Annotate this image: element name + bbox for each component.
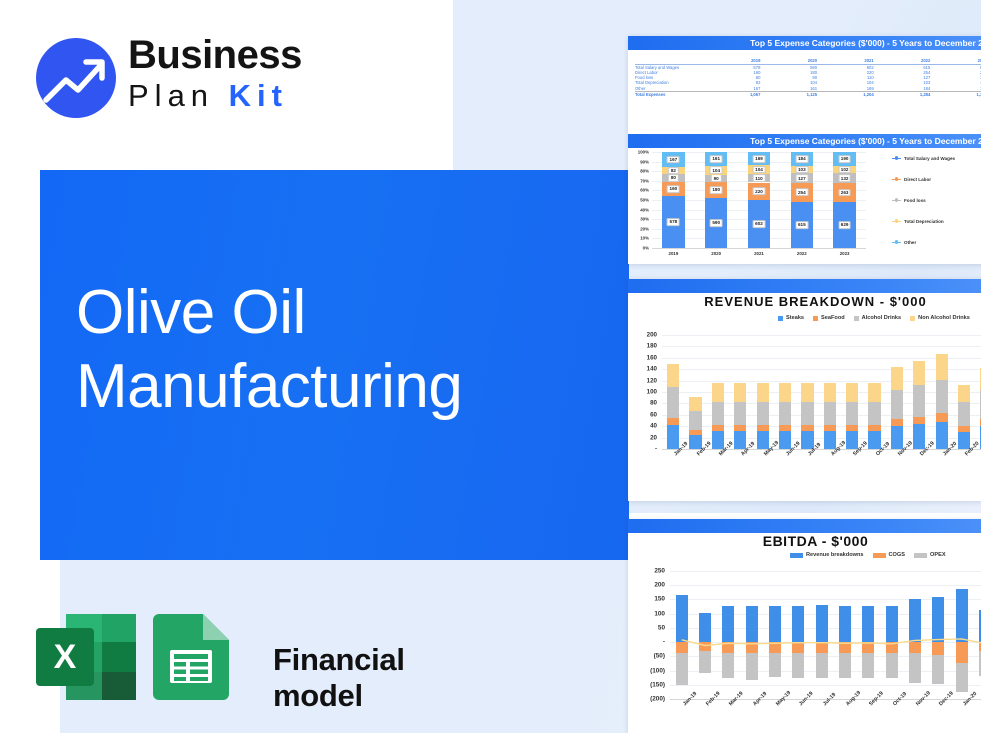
legend-item: Food loss bbox=[892, 198, 926, 203]
y-axis-label: 120 bbox=[628, 377, 657, 384]
legend-marker bbox=[778, 316, 783, 321]
bar-segment bbox=[824, 431, 836, 449]
y-axis-label: 30% bbox=[628, 217, 649, 222]
bar-segment bbox=[667, 387, 679, 417]
bar-segment bbox=[913, 385, 925, 416]
expense-cell: 1,316 bbox=[944, 91, 981, 97]
x-axis-category: 2022 bbox=[797, 251, 807, 256]
legend-label: Steaks bbox=[786, 315, 804, 321]
bar-segment: 160 bbox=[662, 182, 684, 196]
ebitda-chart-legend: Revenue breakdownsCOGSOPEX bbox=[790, 552, 946, 558]
bar-value-label: 263 bbox=[838, 189, 851, 197]
bar-segment bbox=[868, 425, 880, 431]
bar-value-label: 602 bbox=[753, 220, 766, 228]
bar-segment bbox=[958, 432, 970, 449]
bar-value-label: 578 bbox=[667, 218, 680, 226]
y-axis-label: 10% bbox=[628, 236, 649, 241]
bar-segment: 169 bbox=[748, 152, 770, 165]
bar-value-label: 102 bbox=[838, 166, 851, 174]
expense-row-label: Total Expenses bbox=[635, 91, 718, 97]
x-axis-line bbox=[662, 449, 981, 450]
x-axis-category: 2020 bbox=[711, 251, 721, 256]
bar-segment: 110 bbox=[748, 174, 770, 183]
bar-segment bbox=[712, 425, 724, 431]
y-axis-label: 60 bbox=[628, 411, 657, 418]
gridline bbox=[662, 392, 981, 393]
bar-segment bbox=[936, 422, 948, 449]
bar-segment: 263 bbox=[833, 183, 855, 202]
legend-marker bbox=[813, 316, 818, 321]
bar-value-label: 90 bbox=[711, 175, 721, 183]
revenue-chart-title: REVENUE BREAKDOWN - $'000 bbox=[628, 294, 981, 309]
bar-segment bbox=[913, 417, 925, 425]
brand-line-business: Business bbox=[128, 33, 338, 77]
y-axis-label: 70% bbox=[628, 178, 649, 183]
x-axis-category: 2023 bbox=[840, 251, 850, 256]
bar-segment bbox=[891, 367, 903, 390]
legend-item: Revenue breakdowns bbox=[790, 552, 864, 558]
bar-segment: 104 bbox=[705, 166, 727, 175]
bar-segment: 590 bbox=[705, 198, 727, 248]
bar-value-label: 220 bbox=[753, 187, 766, 195]
slide-root: Business Plan Kit Olive Oil Manufacturin… bbox=[0, 0, 981, 733]
gridline bbox=[662, 426, 981, 427]
bar-segment bbox=[712, 402, 724, 425]
revenue-top-band bbox=[628, 279, 981, 293]
bar-value-label: 180 bbox=[710, 186, 723, 194]
legend-label: Total Salary and Wages bbox=[904, 156, 955, 161]
y-axis-label: - bbox=[628, 446, 657, 453]
microsoft-excel-icon: X bbox=[36, 614, 136, 700]
bar-segment: 578 bbox=[662, 196, 684, 248]
legend-item: Other bbox=[892, 240, 916, 245]
legend-marker bbox=[892, 221, 901, 223]
y-axis-label: 100% bbox=[628, 150, 649, 155]
stacked-bar: 602220110104169 bbox=[748, 152, 770, 248]
bar-segment: 132 bbox=[833, 173, 855, 183]
y-axis-label: 50% bbox=[628, 198, 649, 203]
bar-segment: 103 bbox=[791, 166, 813, 174]
bar-segment: 80 bbox=[662, 174, 684, 181]
bar-segment bbox=[667, 418, 679, 425]
legend-label: Alcohol Drinks bbox=[862, 315, 901, 321]
bar-segment: 127 bbox=[791, 173, 813, 183]
legend-label: Food loss bbox=[904, 198, 926, 203]
legend-marker bbox=[914, 553, 927, 558]
ebitda-chart-title: EBITDA - $'000 bbox=[628, 533, 981, 549]
bar-segment bbox=[801, 425, 813, 431]
expense-categories-card: Top 5 Expense Categories ($'000) - 5 Yea… bbox=[628, 36, 981, 264]
bar-segment: 602 bbox=[748, 200, 770, 248]
expense-chart-legend: Total Salary and WagesDirect LaborFood l… bbox=[892, 156, 981, 252]
bar-value-label: 184 bbox=[795, 155, 808, 163]
bar-value-label: 161 bbox=[710, 155, 723, 163]
bar-value-label: 110 bbox=[753, 174, 766, 182]
bar-value-label: 127 bbox=[795, 174, 808, 182]
y-axis-label: 100 bbox=[628, 389, 657, 396]
bar-segment bbox=[689, 435, 701, 449]
y-axis-label: 60% bbox=[628, 188, 649, 193]
bar-segment bbox=[824, 425, 836, 431]
bar-value-label: 167 bbox=[667, 156, 680, 164]
gridline bbox=[662, 381, 981, 382]
bar-segment: 180 bbox=[705, 182, 727, 197]
y-axis-label: 90% bbox=[628, 159, 649, 164]
bar-segment: 190 bbox=[833, 152, 855, 166]
bar-segment bbox=[712, 431, 724, 449]
legend-label: Other bbox=[904, 240, 916, 245]
y-axis-label: 200 bbox=[628, 332, 657, 339]
stacked-bar: 615254127103184 bbox=[791, 152, 813, 248]
bar-segment bbox=[936, 354, 948, 380]
expense-table-title-band: Top 5 Expense Categories ($'000) - 5 Yea… bbox=[628, 36, 981, 50]
expense-table-title: Top 5 Expense Categories ($'000) - 5 Yea… bbox=[750, 36, 981, 50]
legend-item: Non Alcohol Drinks bbox=[910, 315, 970, 321]
bar-segment: 629 bbox=[833, 202, 855, 248]
x-axis-line bbox=[652, 248, 866, 249]
bar-segment bbox=[958, 402, 970, 426]
expense-chart-title: Top 5 Expense Categories ($'000) - 5 Yea… bbox=[750, 134, 981, 148]
expense-table: 20192020202120222023Total Salary and Wag… bbox=[635, 58, 981, 97]
bar-segment: 220 bbox=[748, 183, 770, 201]
legend-label: Direct Labor bbox=[904, 177, 931, 182]
legend-item: Total Depreciation bbox=[892, 219, 944, 224]
hero-banner: Olive Oil Manufacturing bbox=[40, 170, 629, 560]
revenue-chart-legend: SteaksSeaFoodAlcohol DrinksNon Alcohol D… bbox=[778, 315, 970, 321]
bar-segment bbox=[734, 425, 746, 431]
legend-label: COGS bbox=[889, 552, 905, 558]
bar-segment bbox=[801, 402, 813, 425]
bar-segment bbox=[779, 402, 791, 425]
legend-marker bbox=[854, 316, 859, 321]
brand-wordmark: Business Plan Kit bbox=[128, 33, 338, 115]
gridline bbox=[662, 438, 981, 439]
bar-value-label: 82 bbox=[668, 167, 678, 175]
gridline bbox=[662, 415, 981, 416]
bar-segment bbox=[689, 411, 701, 430]
bar-segment bbox=[913, 361, 925, 386]
bar-segment bbox=[891, 426, 903, 449]
bar-segment: 102 bbox=[833, 166, 855, 173]
bar-segment bbox=[712, 383, 724, 401]
bar-value-label: 254 bbox=[795, 189, 808, 197]
brand-kit-text: Kit bbox=[229, 78, 288, 113]
bar-segment: 615 bbox=[791, 202, 813, 248]
stacked-bar: 629263132102190 bbox=[833, 152, 855, 248]
revenue-chart-plot: -20406080100120140160180200Jan-19Feb-19M… bbox=[628, 309, 981, 501]
bar-segment bbox=[757, 425, 769, 431]
y-axis-label: 0% bbox=[628, 246, 649, 251]
legend-item: SeaFood bbox=[813, 315, 845, 321]
bar-segment bbox=[734, 402, 746, 425]
bar-segment: 90 bbox=[705, 175, 727, 183]
bar-segment bbox=[824, 402, 836, 425]
bar-value-label: 160 bbox=[667, 185, 680, 193]
bar-segment bbox=[689, 430, 701, 435]
x-axis-category: 2019 bbox=[669, 251, 679, 256]
y-axis-label: 140 bbox=[628, 366, 657, 373]
bar-segment bbox=[846, 425, 858, 431]
gridline bbox=[662, 369, 981, 370]
ebitda-line-series bbox=[628, 549, 981, 709]
bar-segment bbox=[846, 431, 858, 449]
gridline bbox=[662, 335, 981, 336]
bar-segment bbox=[868, 402, 880, 425]
bar-segment bbox=[846, 402, 858, 425]
expense-cell: 1,125 bbox=[774, 91, 831, 97]
table-row: Total Expenses1,0671,1251,2041,2841,316 bbox=[635, 91, 981, 97]
bar-segment bbox=[913, 424, 925, 449]
legend-label: Total Depreciation bbox=[904, 219, 944, 224]
bar-segment bbox=[936, 413, 948, 422]
legend-item: Alcohol Drinks bbox=[854, 315, 901, 321]
bar-segment bbox=[891, 390, 903, 419]
bar-segment bbox=[891, 419, 903, 426]
bar-segment bbox=[667, 425, 679, 449]
legend-marker bbox=[892, 200, 901, 202]
legend-marker bbox=[910, 316, 915, 321]
bar-segment bbox=[801, 431, 813, 449]
stacked-bar: 59018090104161 bbox=[705, 152, 727, 248]
bar-segment bbox=[801, 383, 813, 401]
bar-segment bbox=[958, 426, 970, 432]
bar-segment bbox=[757, 383, 769, 401]
ebitda-top-band bbox=[628, 519, 981, 533]
growth-arrow-icon bbox=[36, 38, 116, 118]
legend-item: COGS bbox=[873, 552, 905, 558]
gridline bbox=[662, 403, 981, 404]
bar-value-label: 169 bbox=[753, 155, 766, 163]
bar-segment: 161 bbox=[705, 152, 727, 166]
google-sheets-icon bbox=[153, 614, 229, 700]
legend-marker bbox=[873, 553, 886, 558]
bar-value-label: 80 bbox=[668, 174, 678, 182]
bar-segment: 167 bbox=[662, 152, 684, 167]
x-axis-category: 2021 bbox=[754, 251, 764, 256]
legend-label: OPEX bbox=[930, 552, 946, 558]
ebitda-card: EBITDA - $'000 (200)(150)(100)(50)-50100… bbox=[628, 519, 981, 733]
y-axis-label: 40% bbox=[628, 207, 649, 212]
legend-marker bbox=[892, 179, 901, 181]
expense-cell: 1,284 bbox=[888, 91, 945, 97]
ebitda-chart-plot: (200)(150)(100)(50)-50100150200250Jan-19… bbox=[628, 549, 981, 733]
gridline bbox=[662, 346, 981, 347]
bar-segment bbox=[846, 383, 858, 401]
bar-segment: 184 bbox=[791, 152, 813, 166]
expense-chart-title-band: Top 5 Expense Categories ($'000) - 5 Yea… bbox=[628, 134, 981, 148]
bar-segment bbox=[667, 364, 679, 387]
stacked-bar: 5781608082167 bbox=[662, 152, 684, 248]
y-axis-label: 20% bbox=[628, 226, 649, 231]
bar-segment: 104 bbox=[748, 165, 770, 173]
svg-text:X: X bbox=[54, 638, 77, 676]
legend-marker bbox=[790, 553, 803, 558]
expense-stacked-chart: 0%10%20%30%40%50%60%70%80%90%100%5781608… bbox=[628, 148, 981, 264]
y-axis-label: 180 bbox=[628, 343, 657, 350]
bar-segment bbox=[868, 383, 880, 401]
y-axis-label: 80% bbox=[628, 169, 649, 174]
bar-segment: 82 bbox=[662, 167, 684, 174]
legend-item: Direct Labor bbox=[892, 177, 931, 182]
bar-segment bbox=[689, 397, 701, 411]
bar-segment bbox=[734, 383, 746, 401]
bar-segment: 254 bbox=[791, 183, 813, 202]
brand-logo: Business Plan Kit bbox=[36, 33, 336, 121]
bar-segment bbox=[936, 380, 948, 413]
bar-value-label: 190 bbox=[838, 155, 851, 163]
y-axis-label: 160 bbox=[628, 354, 657, 361]
bar-value-label: 103 bbox=[795, 166, 808, 174]
bar-value-label: 590 bbox=[710, 219, 723, 227]
bar-segment bbox=[779, 383, 791, 401]
legend-marker bbox=[892, 242, 901, 244]
brand-plan-text: Plan bbox=[128, 78, 214, 113]
bar-segment bbox=[734, 431, 746, 449]
bar-segment bbox=[779, 425, 791, 431]
revenue-breakdown-card: REVENUE BREAKDOWN - $'000 -2040608010012… bbox=[628, 279, 981, 501]
legend-label: Non Alcohol Drinks bbox=[918, 315, 970, 321]
bar-segment bbox=[868, 431, 880, 449]
legend-marker bbox=[892, 158, 901, 160]
bar-value-label: 104 bbox=[753, 166, 766, 174]
bar-segment bbox=[824, 383, 836, 401]
bar-segment bbox=[958, 385, 970, 402]
bar-segment bbox=[757, 402, 769, 425]
legend-label: SeaFood bbox=[821, 315, 845, 321]
legend-item: Steaks bbox=[778, 315, 804, 321]
y-axis-label: 80 bbox=[628, 400, 657, 407]
y-axis-label: 40 bbox=[628, 423, 657, 430]
legend-label: Revenue breakdowns bbox=[806, 552, 864, 558]
bar-value-label: 104 bbox=[710, 166, 723, 174]
page-title: Olive Oil Manufacturing bbox=[76, 276, 616, 424]
brand-line-plan-kit: Plan Kit bbox=[128, 77, 338, 115]
gridline bbox=[662, 358, 981, 359]
bar-value-label: 132 bbox=[838, 174, 851, 182]
bar-value-label: 629 bbox=[838, 221, 851, 229]
legend-item: OPEX bbox=[914, 552, 946, 558]
legend-item: Total Salary and Wages bbox=[892, 156, 955, 161]
bar-segment bbox=[779, 431, 791, 449]
expense-cell: 1,204 bbox=[831, 91, 888, 97]
bar-segment bbox=[757, 431, 769, 449]
footer-label: Financial model bbox=[273, 642, 405, 714]
y-axis-label: 20 bbox=[628, 434, 657, 441]
expense-cell: 1,067 bbox=[718, 91, 775, 97]
bar-value-label: 615 bbox=[795, 221, 808, 229]
